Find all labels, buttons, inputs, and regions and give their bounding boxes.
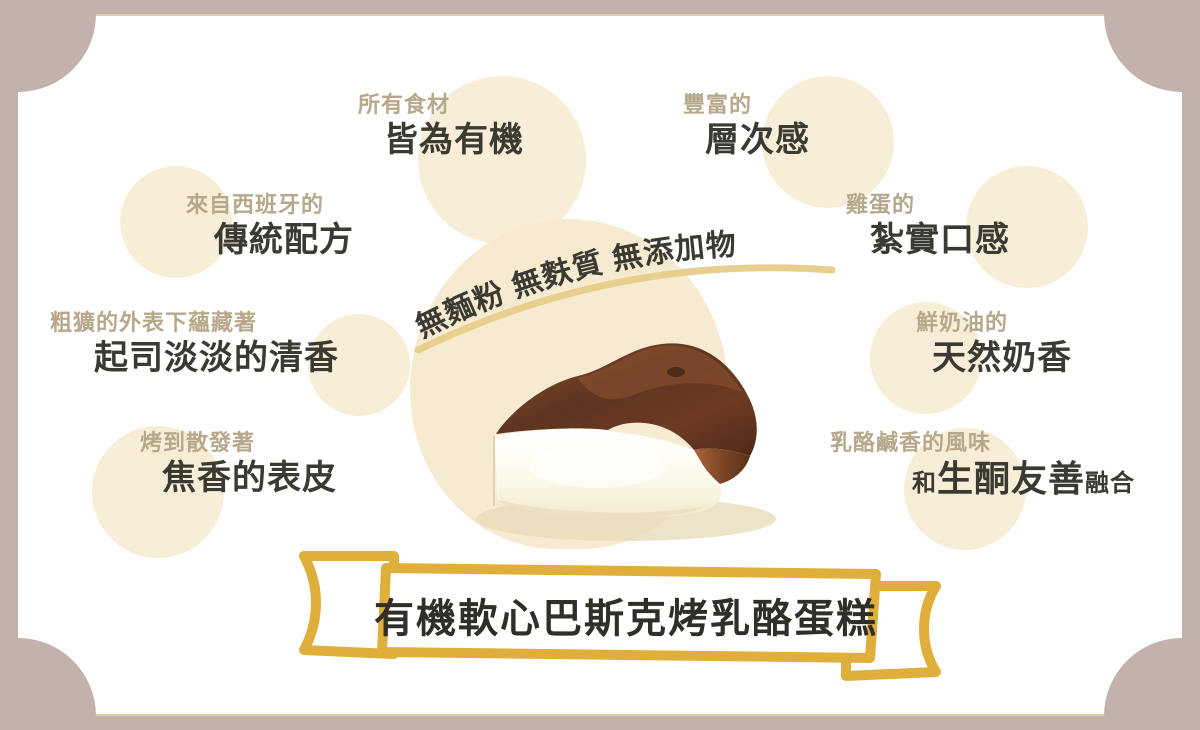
cheesecake-illustration bbox=[458, 314, 788, 549]
feature-right-texture: 雞蛋的 紮實口感 bbox=[846, 194, 1010, 257]
feature-main-suffix: 融合 bbox=[1085, 470, 1135, 497]
ribbon-plate bbox=[382, 568, 876, 658]
feature-right-cream: 鮮奶油的 天然奶香 bbox=[916, 312, 1072, 375]
feature-sub: 乳酪鹹香的風味 bbox=[830, 432, 1135, 454]
feature-sub: 豐富的 bbox=[683, 94, 810, 116]
feature-main: 皆為有機 bbox=[384, 123, 524, 157]
feature-top-organic: 所有食材 皆為有機 bbox=[358, 94, 524, 157]
poster-panel: 所有食材 皆為有機 豐富的 層次感 來自西班牙的 傳統配方 粗獷的外表下蘊藏著 … bbox=[18, 14, 1182, 716]
feature-main: 起司淡淡的清香 bbox=[94, 341, 339, 375]
feature-sub: 所有食材 bbox=[358, 94, 524, 116]
feature-left-crust: 烤到散發著 焦香的表皮 bbox=[140, 432, 337, 495]
feature-main-emphasis: 生酮友善 bbox=[937, 458, 1085, 499]
panel-corner-top-right bbox=[1104, 14, 1182, 92]
cake-char-spot bbox=[667, 367, 685, 377]
feature-main: 傳統配方 bbox=[214, 223, 354, 257]
feature-top-layers: 豐富的 層次感 bbox=[683, 94, 810, 157]
feature-main-prefix: 和 bbox=[912, 470, 937, 497]
feature-sub: 粗獷的外表下蘊藏著 bbox=[50, 312, 339, 334]
feature-sub: 烤到散發著 bbox=[140, 432, 337, 454]
feature-right-keto: 乳酪鹹香的風味 和生酮友善融合 bbox=[830, 432, 1135, 497]
feature-main: 天然奶香 bbox=[932, 341, 1072, 375]
gold-hairline-bottom bbox=[18, 714, 1182, 716]
feature-left-aroma: 粗獷的外表下蘊藏著 起司淡淡的清香 bbox=[50, 312, 339, 375]
gold-hairline-top bbox=[18, 14, 1182, 16]
cake-body-sheen bbox=[530, 444, 666, 488]
product-title-ribbon: 有機軟心巴斯克烤乳酪蛋糕 bbox=[290, 542, 950, 682]
panel-corner-bottom-right bbox=[1104, 638, 1182, 716]
feature-main: 層次感 bbox=[705, 123, 810, 157]
feature-sub: 鮮奶油的 bbox=[916, 312, 1072, 334]
feature-sub: 來自西班牙的 bbox=[186, 194, 354, 216]
feature-main: 紮實口感 bbox=[870, 223, 1010, 257]
poster-root: 所有食材 皆為有機 豐富的 層次感 來自西班牙的 傳統配方 粗獷的外表下蘊藏著 … bbox=[0, 0, 1200, 730]
feature-main: 和生酮友善融合 bbox=[912, 461, 1135, 497]
feature-left-recipe: 來自西班牙的 傳統配方 bbox=[186, 194, 354, 257]
panel-corner-top-left bbox=[18, 14, 96, 92]
feature-sub: 雞蛋的 bbox=[846, 194, 1010, 216]
panel-corner-bottom-left bbox=[18, 638, 96, 716]
feature-main: 焦香的表皮 bbox=[162, 461, 337, 495]
